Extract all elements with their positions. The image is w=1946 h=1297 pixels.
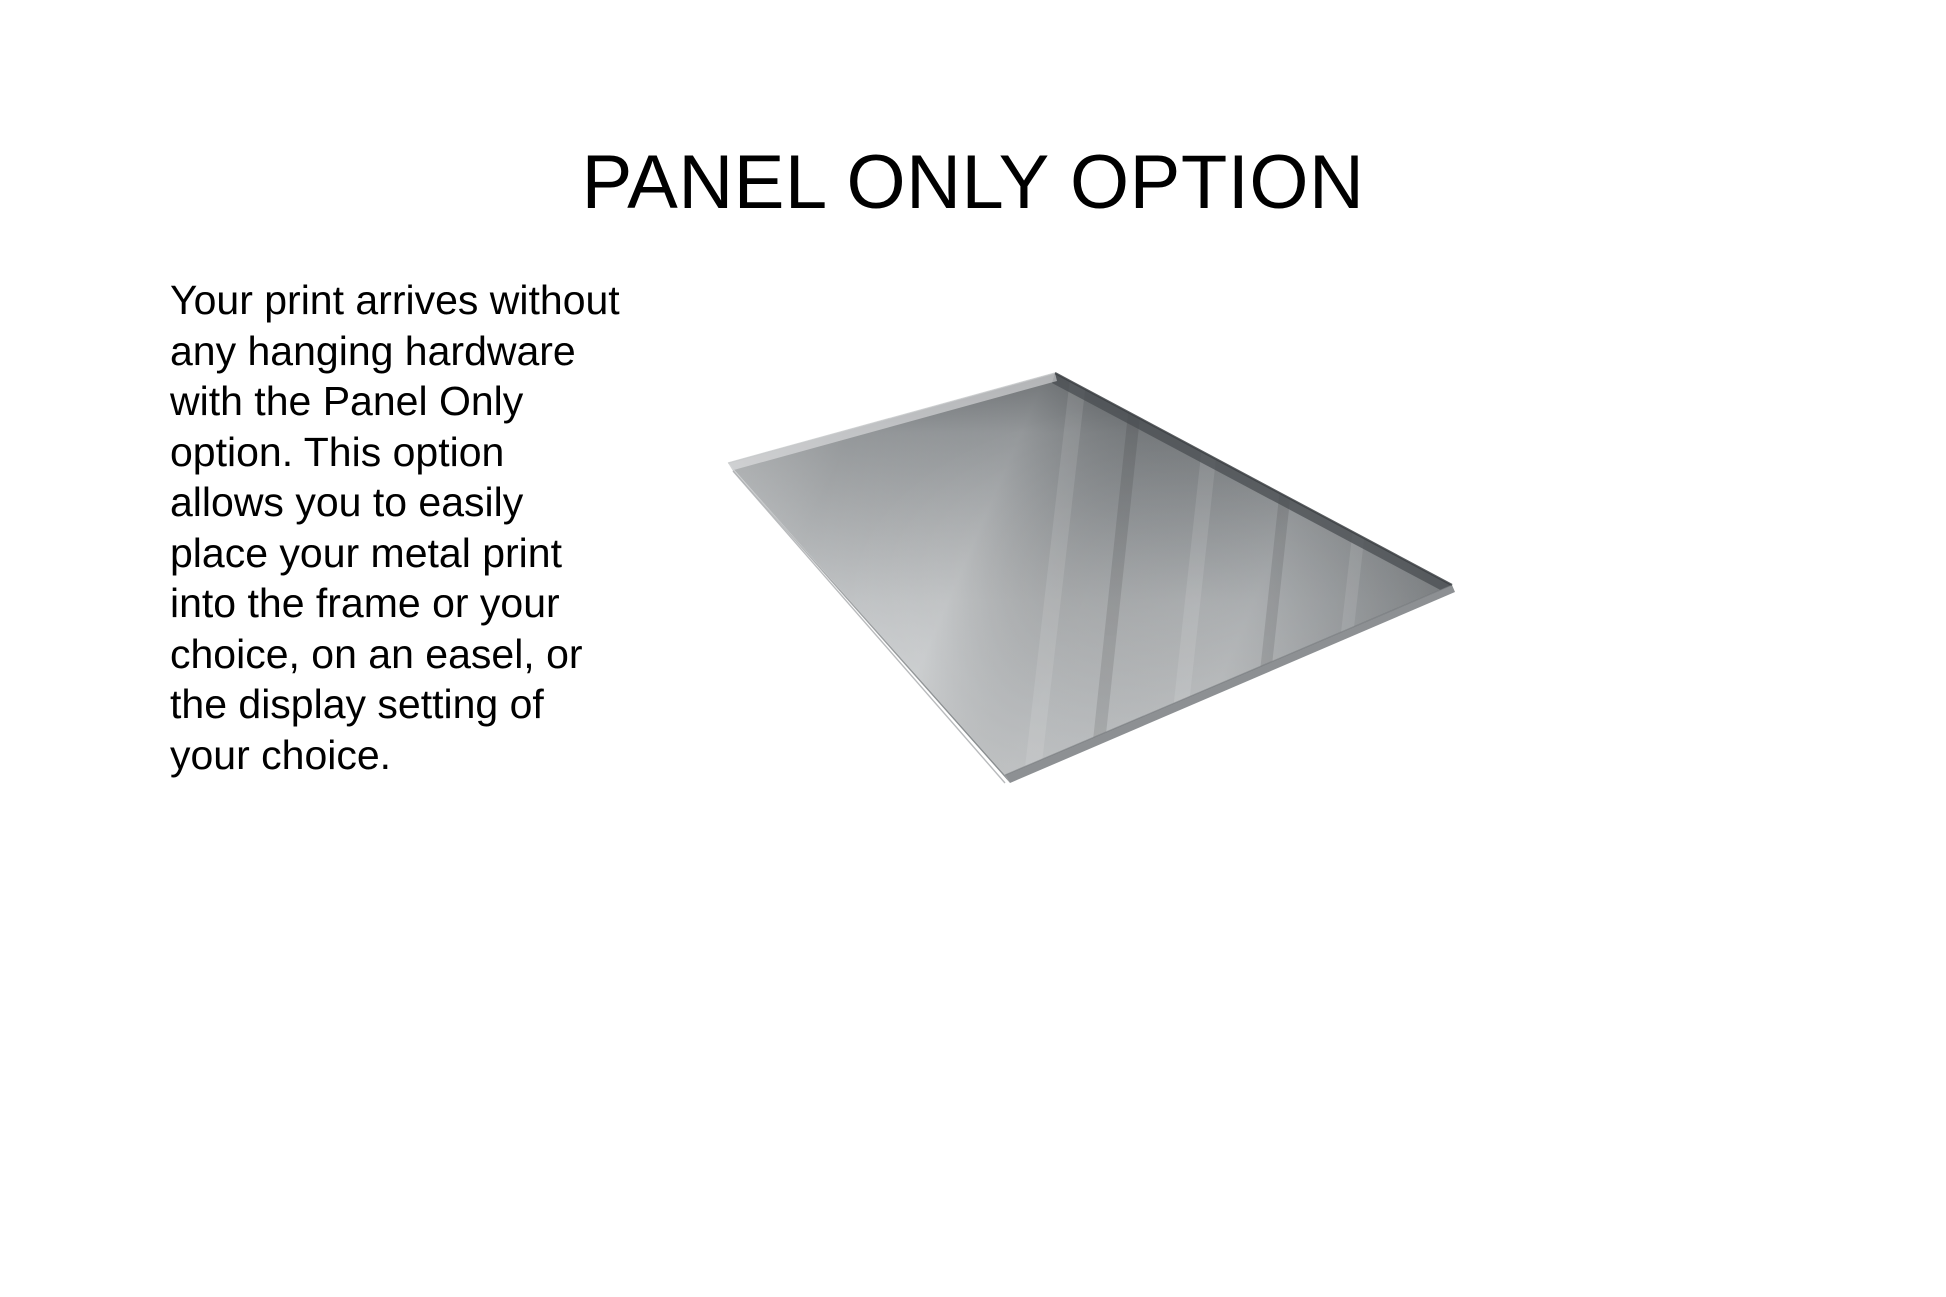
metal-panel-illustration [700,350,1500,810]
body-line: option. This option [170,427,640,478]
body-line: the display setting of [170,679,640,730]
body-line: your choice. [170,730,640,781]
page-title: PANEL ONLY OPTION [0,139,1946,227]
body-line: allows you to easily [170,477,640,528]
panel-shading [700,350,1500,820]
body-line: into the frame or your [170,578,640,629]
body-line: choice, on an easel, or [170,629,640,680]
body-paragraph: Your print arrives without any hanging h… [170,275,640,780]
body-line: any hanging hardware [170,326,640,377]
body-line: with the Panel Only [170,376,640,427]
metal-panel-svg [700,350,1500,810]
body-line: Your print arrives without [170,275,640,326]
body-line: place your metal print [170,528,640,579]
slide-canvas: PANEL ONLY OPTION Your print arrives wit… [0,0,1946,1297]
